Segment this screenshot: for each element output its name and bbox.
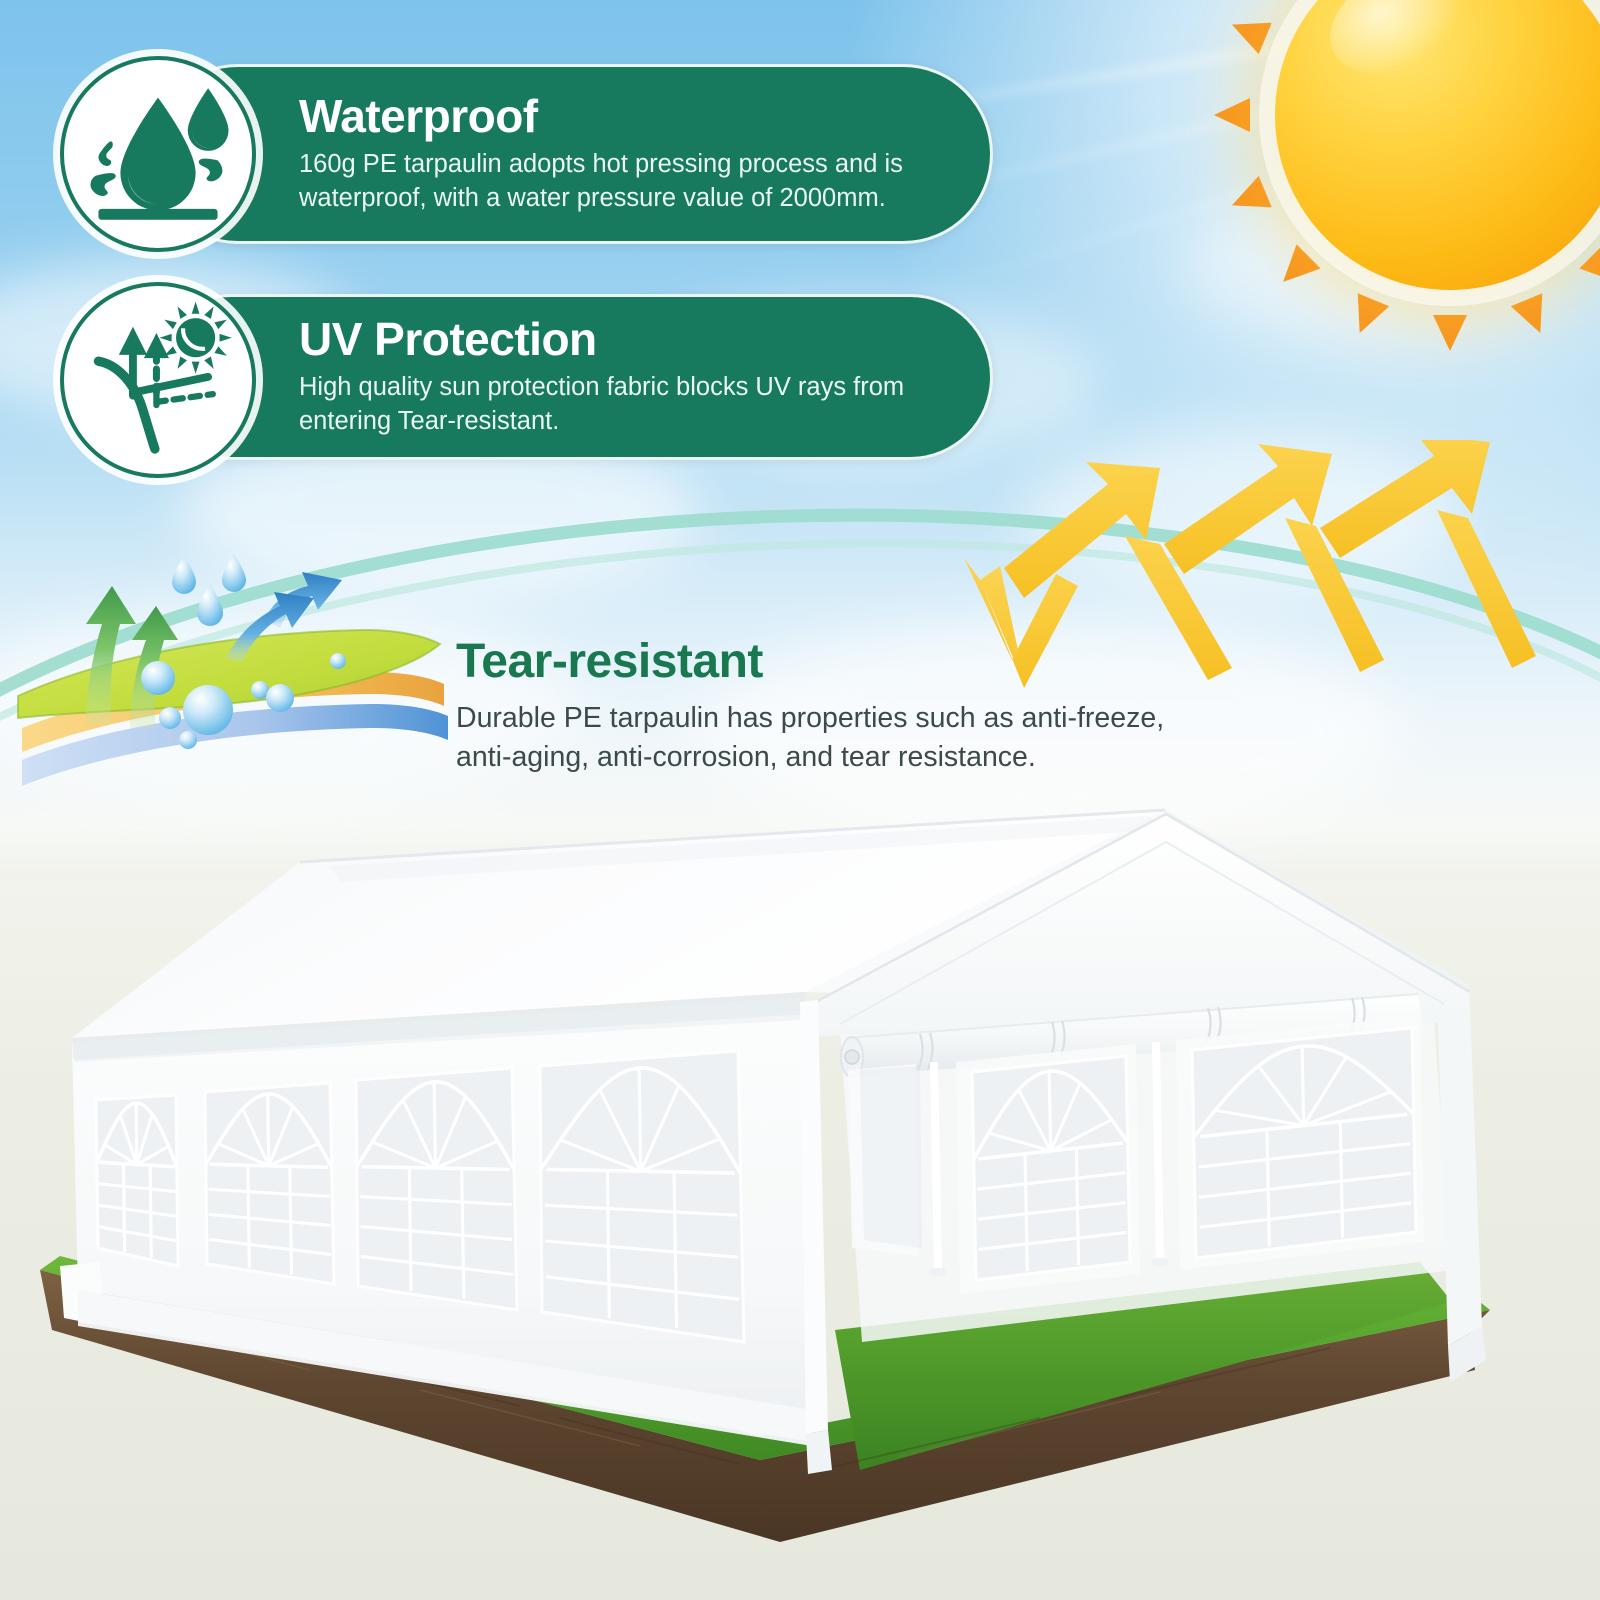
window-end-2: [1192, 1028, 1416, 1258]
water-drop-icon: [60, 56, 256, 252]
badge-description: High quality sun protection fabric block…: [299, 370, 930, 438]
feature-text-tear-resistant: Tear-resistant Durable PE tarpaulin has …: [456, 634, 1216, 778]
feature-badge-waterproof[interactable]: Waterproof 160g PE tarpaulin adopts hot …: [0, 56, 1010, 252]
badge-title: UV Protection: [299, 314, 930, 365]
window-side-1: [96, 1095, 178, 1266]
uv-sun-shield-icon: [60, 282, 256, 478]
badge-title: Waterproof: [299, 91, 930, 142]
window-side-3: [356, 1068, 517, 1310]
badge-description: 160g PE tarpaulin adopts hot pressing pr…: [299, 147, 930, 215]
sun-ray-spike: [1433, 315, 1467, 351]
badge-pill-uv-protection: UV Protection High quality sun protectio…: [148, 294, 993, 460]
window-side-2: [205, 1083, 334, 1284]
feature-description: Durable PE tarpaulin has properties such…: [456, 699, 1216, 778]
sun-ray-spike: [1214, 98, 1250, 132]
infographic-canvas: Waterproof 160g PE tarpaulin adopts hot …: [0, 0, 1600, 1600]
party-tent-render: [0, 770, 1600, 1600]
badge-pill-waterproof: Waterproof 160g PE tarpaulin adopts hot …: [148, 64, 993, 244]
feature-title: Tear-resistant: [456, 634, 1216, 689]
sun-icon: [1215, 0, 1600, 350]
feature-badge-uv-protection[interactable]: UV Protection High quality sun protectio…: [0, 282, 1010, 478]
window-end-1: [972, 1056, 1130, 1280]
window-side-4: [540, 1051, 744, 1342]
